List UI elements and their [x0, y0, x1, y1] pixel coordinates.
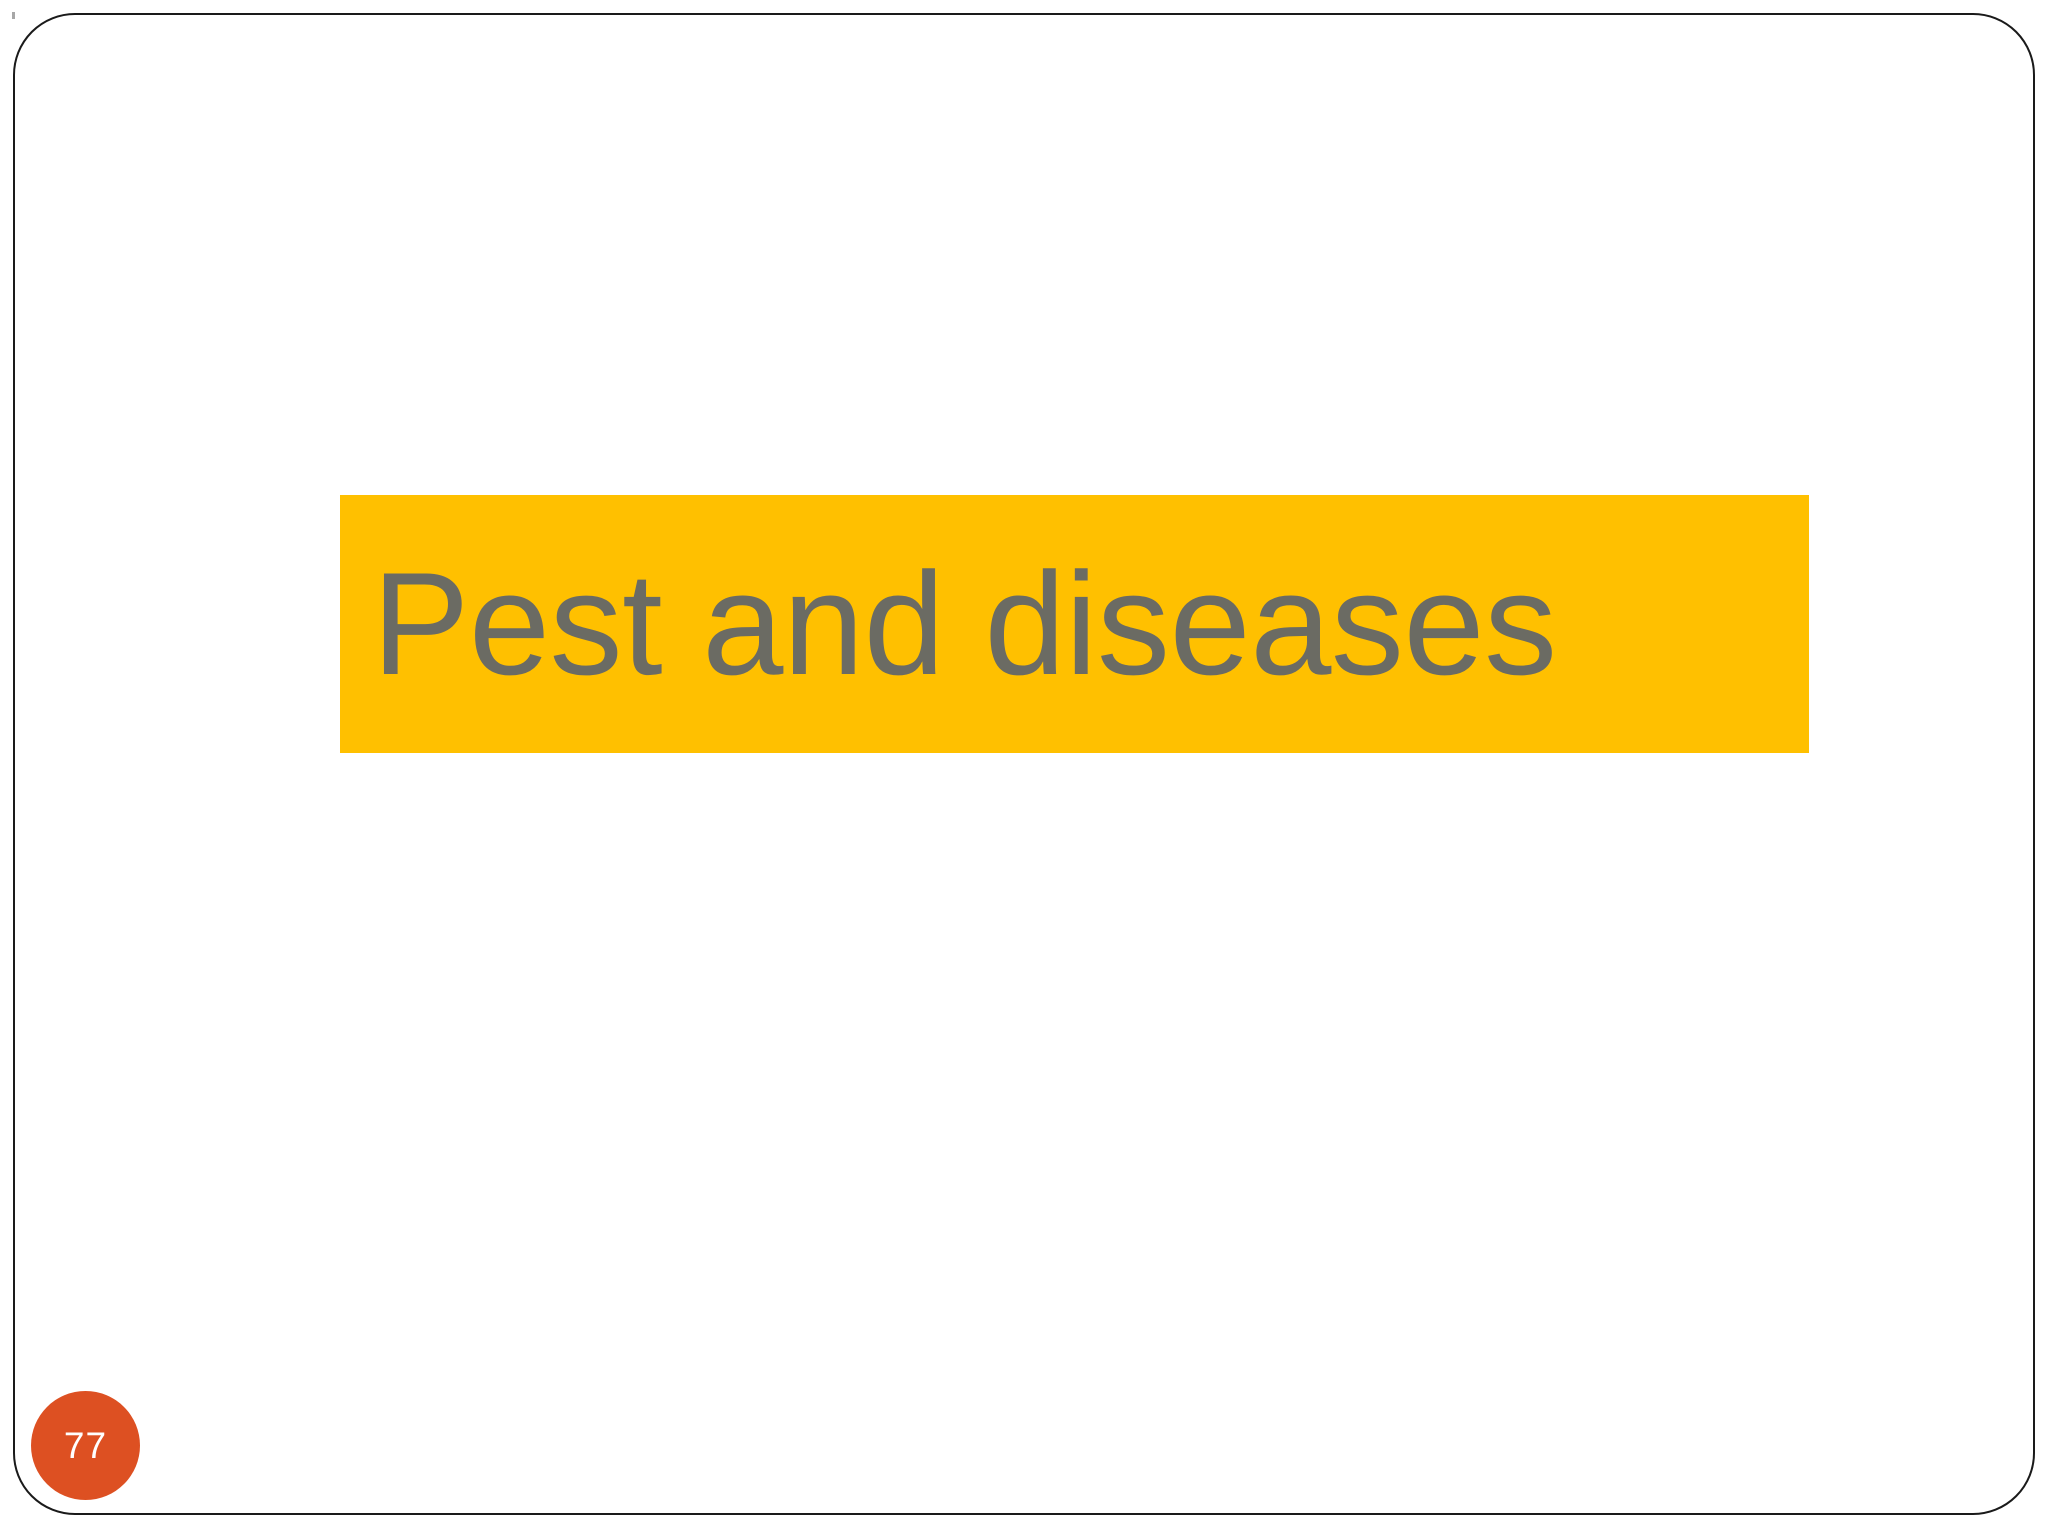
- slide-title: Pest and diseases: [372, 547, 1557, 700]
- presentation-slide: Pest and diseases 77: [0, 0, 2048, 1536]
- page-number-label: 77: [64, 1427, 107, 1464]
- slide-border-frame: [13, 13, 2035, 1515]
- title-banner: Pest and diseases: [340, 495, 1809, 753]
- page-number-badge: 77: [31, 1391, 140, 1500]
- corner-artifact-mark: [12, 12, 15, 19]
